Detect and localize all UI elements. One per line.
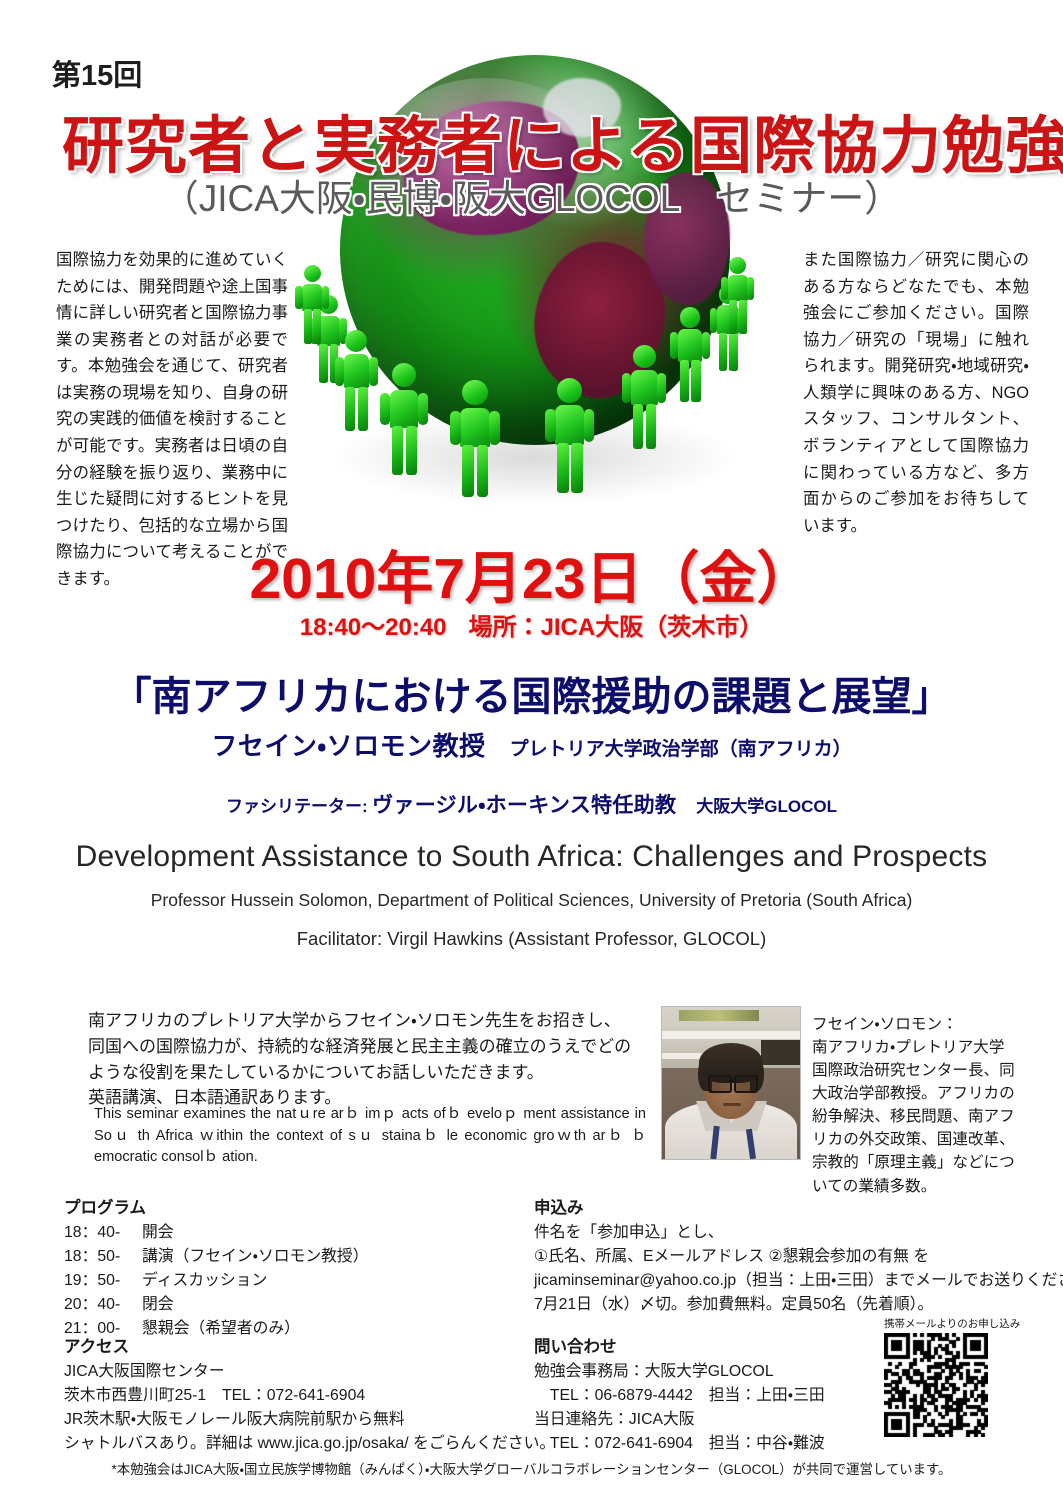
event-time-venue: 18:40～20:40場所：JICA大阪（茨木市）: [0, 607, 1063, 642]
session-speaker-en: Professor Hussein Solomon, Department of…: [0, 890, 1063, 911]
abstract-en: This seminar examines the natｕre arｂ imｐ…: [94, 1104, 646, 1169]
photo-shelf-line-1: [662, 1031, 800, 1039]
intro-text-right: また国際協力／研究に関心のある方ならどなたでも、本勉強会にご参加ください。国際協…: [803, 247, 1029, 539]
program-rows: 18：40-開会18：50-講演（フセイン・ソロモン教授）19：50-ディスカッ…: [64, 1221, 494, 1341]
photo-glasses-right-lens: [734, 1075, 759, 1093]
photo-glasses-bridge: [728, 1080, 734, 1082]
apply-line: jicaminseminar@yahoo.co.jp（担当：上田・三田）までメー…: [534, 1269, 1054, 1293]
program-row-time: 18：50-: [64, 1245, 142, 1269]
contact-section: 問い合わせ 勉強会事務局：大阪大学GLOCOL TEL：06-6879-4442…: [534, 1333, 934, 1456]
apply-line: 件名を「参加申込」とし、: [534, 1221, 1054, 1245]
access-section: アクセス JICA大阪国際センター茨木市西豊川町25-1 TEL：072-641…: [64, 1333, 524, 1456]
program-row-item: 講演（フセイン・ソロモン教授）: [142, 1248, 369, 1265]
program-row-time: 20：40-: [64, 1293, 142, 1317]
program-row-time: 19：50-: [64, 1269, 142, 1293]
speaker-bio: フセイン・ソロモン： 南アフリカ・プレトリア大学 国際政治研究センター長、同 大…: [812, 1013, 1037, 1198]
person-figure-icon: [448, 380, 503, 497]
apply-section: 申込み 件名を「参加申込」とし、①氏名、所属、Eメールアドレス ②懇親会参加の有…: [534, 1194, 1054, 1317]
facilitator-label-jp: ファシリテーター:: [226, 797, 368, 816]
program-row: 18：50-講演（フセイン・ソロモン教授）: [64, 1245, 494, 1269]
session-speaker-jp: フセイン・ソロモン教授プレトリア大学政治学部（南アフリカ）: [0, 726, 1063, 763]
access-heading: アクセス: [64, 1333, 524, 1357]
poster-root: 第15回 研究者と実務者による国際協力勉強会 （JICA大阪・民博・阪大GLOC…: [0, 0, 1063, 1504]
apply-heading: 申込み: [534, 1194, 1054, 1218]
contact-heading: 問い合わせ: [534, 1333, 934, 1357]
apply-line: ①氏名、所属、Eメールアドレス ②懇親会参加の有無 を: [534, 1245, 1054, 1269]
facilitator-affiliation-jp: 大阪大学GLOCOL: [696, 797, 837, 816]
edition-number: 第15回: [52, 52, 142, 94]
program-row: 19：50-ディスカッション: [64, 1269, 494, 1293]
person-figure-icon: [620, 345, 669, 450]
apply-lines: 件名を「参加申込」とし、①氏名、所属、Eメールアドレス ②懇親会参加の有無 をj…: [534, 1221, 1054, 1317]
subtitle-part-b: セミナー）: [716, 178, 901, 219]
photo-shelf-decoration: [679, 1010, 759, 1021]
access-lines: JICA大阪国際センター茨木市西豊川町25-1 TEL：072-641-6904…: [64, 1360, 524, 1456]
program-row-item: 開会: [142, 1224, 174, 1241]
session-title-jp: 「南アフリカにおける国際援助の課題と展望」: [0, 664, 1063, 722]
photo-mouth: [723, 1103, 741, 1106]
contact-line: TEL：072-641-6904 担当：中谷・難波: [534, 1432, 934, 1456]
person-figure-icon: [333, 330, 381, 431]
access-line: シャトルバスあり。詳細は www.jica.go.jp/osaka/ をごらんく…: [64, 1432, 524, 1456]
abstract-jp: 南アフリカのプレトリア大学からフセイン・ソロモン先生をお招きし、 同国への国際協…: [88, 1008, 648, 1111]
event-time: 18:40～20:40: [300, 614, 447, 641]
photo-glasses-left-lens: [708, 1075, 733, 1093]
program-row: 20：40-閉会: [64, 1293, 494, 1317]
speaker-photo: [661, 1006, 801, 1160]
contact-line: 当日連絡先：JICA大阪: [534, 1408, 934, 1432]
apply-line: 7月21日（水）〆切。参加費無料。定員50名（先着順）。: [534, 1293, 1054, 1317]
contact-line: 勉強会事務局：大阪大学GLOCOL: [534, 1360, 934, 1384]
program-row-item: ディスカッション: [142, 1272, 267, 1289]
qr-code-label: 携帯メールよりのお申し込み: [884, 1316, 1020, 1331]
program-heading: プログラム: [64, 1194, 494, 1218]
program-row-time: 18：40-: [64, 1221, 142, 1245]
contact-lines: 勉強会事務局：大阪大学GLOCOL TEL：06-6879-4442 担当：上田…: [534, 1360, 934, 1456]
access-line: JICA大阪国際センター: [64, 1360, 524, 1384]
person-figure-icon: [543, 378, 598, 494]
event-date: 2010年7月23日（金）: [0, 533, 1063, 615]
speaker-name-jp: フセイン・ソロモン教授: [211, 731, 485, 761]
person-figure-icon: [378, 363, 431, 475]
qr-code-icon[interactable]: [884, 1333, 988, 1437]
person-figure-icon: [294, 265, 331, 344]
footer-note: *本勉強会はJICA大阪・国立民族学博物館（みんぱく）・大阪大学グローバルコラボ…: [0, 1458, 1063, 1478]
subtitle-part-a: （JICA大阪・民博・阪大GLOCOL: [162, 178, 681, 219]
person-figure-icon: [668, 307, 713, 402]
program-row-item: 閉会: [142, 1296, 174, 1313]
event-venue: 場所：JICA大阪（茨木市）: [469, 614, 764, 641]
person-figure-icon: [720, 257, 756, 334]
speaker-affiliation-jp: プレトリア大学政治学部（南アフリカ）: [510, 739, 852, 760]
session-facilitator-en: Facilitator: Virgil Hawkins (Assistant P…: [0, 928, 1063, 950]
access-line: 茨木市西豊川町25-1 TEL：072-641-6904: [64, 1384, 524, 1408]
facilitator-name-jp: ヴァージル・ホーキンス特任助教: [372, 794, 676, 817]
session-facilitator-jp: ファシリテーター: ヴァージル・ホーキンス特任助教大阪大学GLOCOL: [0, 789, 1063, 819]
contact-line: TEL：06-6879-4442 担当：上田・三田: [534, 1384, 934, 1408]
page-subtitle: （JICA大阪・民博・阪大GLOCOLセミナー）: [0, 168, 1063, 222]
access-line: JR茨木駅・大阪モノレール阪大病院前駅から無料: [64, 1408, 524, 1432]
program-section: プログラム 18：40-開会18：50-講演（フセイン・ソロモン教授）19：50…: [64, 1194, 494, 1341]
photo-dark-panel: [761, 1040, 800, 1064]
program-row: 18：40-開会: [64, 1221, 494, 1245]
session-title-en: Development Assistance to South Africa: …: [0, 840, 1063, 874]
